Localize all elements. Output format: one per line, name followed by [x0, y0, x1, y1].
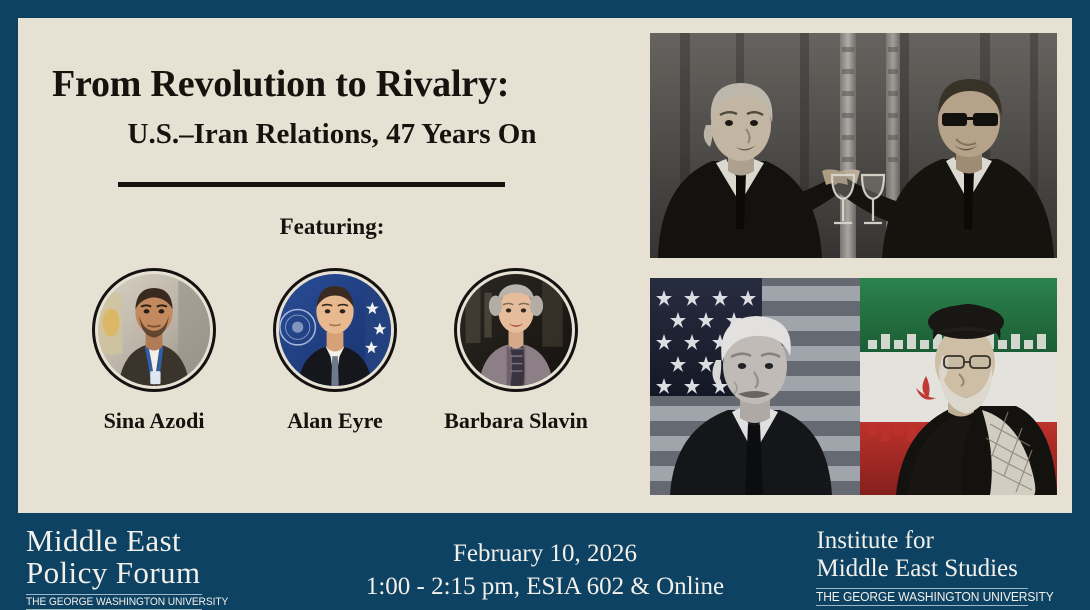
page-subtitle: U.S.–Iran Relations, 47 Years On — [52, 116, 612, 152]
event-time-location: 1:00 - 2:15 pm, ESIA 602 & Online — [300, 570, 790, 603]
avatar — [92, 268, 216, 392]
logo-institute-middle-east-studies: Institute for Middle East Studies THE GE… — [816, 527, 1064, 606]
speaker-name: Barbara Slavin — [444, 408, 588, 434]
left-column: From Revolution to Rivalry: U.S.–Iran Re… — [18, 18, 632, 513]
event-date: February 10, 2026 — [300, 537, 790, 570]
portrait-sina-azodi — [98, 274, 210, 386]
logo-middle-east-policy-forum: Middle East Policy Forum THE GEORGE WASH… — [26, 525, 243, 610]
speaker-card: Barbara Slavin — [432, 268, 600, 434]
portrait-barbara-slavin — [460, 274, 572, 386]
avatar — [273, 268, 397, 392]
photo-carter-shah — [650, 33, 1057, 258]
imes-rule-bottom — [816, 605, 1028, 606]
featuring-label: Featuring: — [52, 214, 612, 240]
footer-bar: Middle East Policy Forum THE GEORGE WASH… — [0, 513, 1090, 610]
imes-university: THE GEORGE WASHINGTON UNIVERSITY — [816, 589, 1054, 605]
title-divider — [118, 182, 505, 187]
imes-line-2: Middle East Studies — [816, 555, 1064, 583]
mepf-university: THE GEORGE WASHINGTON UNIVERSITY — [26, 595, 228, 609]
speaker-name: Sina Azodi — [104, 408, 205, 434]
speaker-name: Alan Eyre — [287, 408, 383, 434]
page-title: From Revolution to Rivalry: — [52, 62, 612, 106]
speaker-card: Alan Eyre — [251, 268, 419, 434]
mepf-line-1: Middle East — [26, 525, 243, 557]
portrait-alan-eyre — [279, 274, 391, 386]
mepf-line-2: Policy Forum — [26, 557, 243, 589]
photo-trump-khamenei — [650, 278, 1057, 495]
avatar — [454, 268, 578, 392]
speaker-card: Sina Azodi — [70, 268, 238, 434]
event-details: February 10, 2026 1:00 - 2:15 pm, ESIA 6… — [300, 537, 790, 603]
imes-line-1: Institute for — [816, 527, 1064, 555]
speaker-list: Sina Azodi — [70, 268, 600, 434]
event-flyer: From Revolution to Rivalry: U.S.–Iran Re… — [0, 0, 1090, 610]
